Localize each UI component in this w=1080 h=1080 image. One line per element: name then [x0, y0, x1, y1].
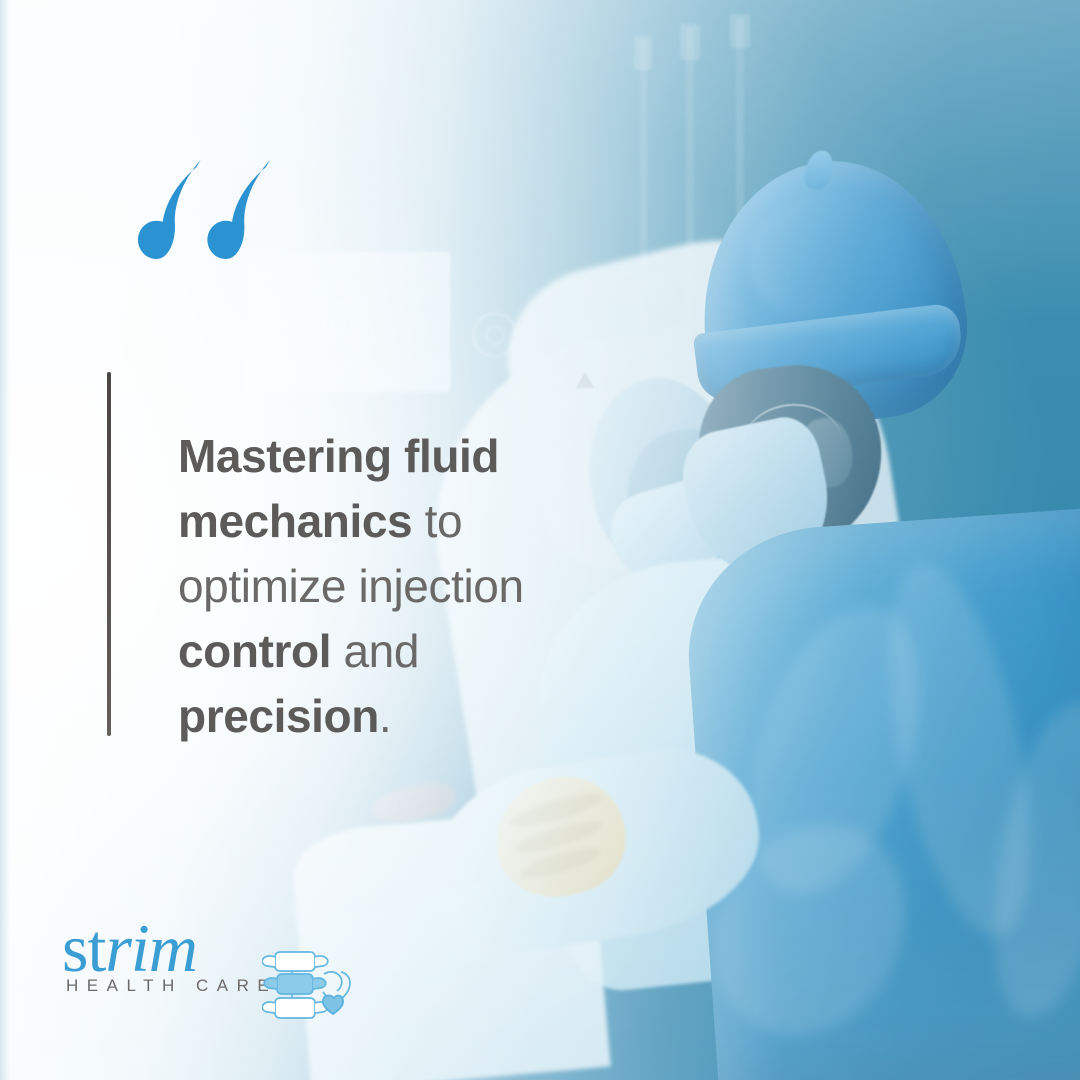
brand-logo: strim HEALTH CARE — [62, 912, 362, 1022]
spine-vertebrae-heart-in-hands-icon — [262, 940, 358, 1028]
quote-divider — [107, 372, 111, 736]
quote-run-regular: optimize injection — [178, 560, 524, 612]
quote-run-bold: precision — [178, 690, 379, 742]
quote-run-bold: mechanics — [178, 495, 412, 547]
social-quote-card: Mastering fluidmechanics tooptimize inje… — [0, 0, 1080, 1080]
logo-tagline: HEALTH CARE — [66, 976, 277, 996]
quote-run-regular: to — [412, 495, 462, 547]
logo-wordmark-italic: rim — [105, 910, 196, 986]
quote-open-icon — [138, 160, 270, 260]
logo-wordmark-upright: st — [62, 910, 105, 986]
quote-run-bold: Mastering fluid — [178, 430, 499, 482]
logo-wordmark: strim — [62, 912, 197, 984]
quote-text: Mastering fluidmechanics tooptimize inje… — [178, 424, 598, 749]
quote-run-regular: . — [379, 690, 391, 742]
quote-run-regular: and — [331, 625, 419, 677]
quote-run-bold: control — [178, 625, 331, 677]
card-content: Mastering fluidmechanics tooptimize inje… — [0, 0, 1080, 1080]
